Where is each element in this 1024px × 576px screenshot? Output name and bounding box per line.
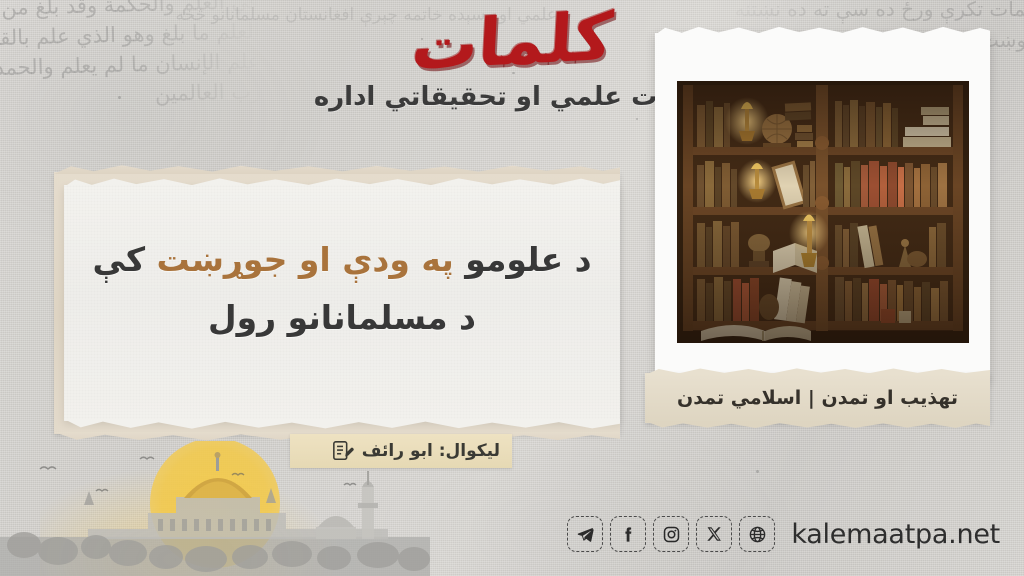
paper-speckle bbox=[636, 118, 638, 120]
photo-frame bbox=[655, 33, 990, 381]
x-twitter-icon[interactable] bbox=[696, 516, 732, 552]
social-links-row: kalemaatpa.net bbox=[567, 516, 1000, 552]
kalemaat-logo[interactable]: كلمات bbox=[409, 1, 614, 83]
website-url[interactable]: kalemaatpa.net bbox=[791, 521, 1000, 548]
facebook-icon[interactable] bbox=[610, 516, 646, 552]
headline-card: د علومو په ودې او جوړښت کې د مسلمانانو ر… bbox=[64, 185, 620, 421]
category-strip: تهذیب او تمدن | اسلامي تمدن bbox=[645, 373, 990, 423]
telegram-icon[interactable] bbox=[567, 516, 603, 552]
globe-website-icon[interactable] bbox=[739, 516, 775, 552]
instagram-icon[interactable] bbox=[653, 516, 689, 552]
headline-highlight: په ودې او جوړښت bbox=[157, 240, 454, 279]
article-headline: د علومو په ودې او جوړښت کې د مسلمانانو ر… bbox=[82, 231, 602, 347]
author-badge: لیکوال: ابو رائف bbox=[290, 434, 512, 468]
headline-segment-1: د علومو bbox=[465, 240, 591, 279]
category-label: تهذیب او تمدن | اسلامي تمدن bbox=[677, 387, 958, 409]
poster-canvas: في العلم والحكمة وقد بلغ من العلم ما بلغ… bbox=[0, 0, 1024, 576]
pencil-document-icon bbox=[332, 439, 354, 463]
author-label: لیکوال: ابو رائف bbox=[362, 443, 500, 460]
paper-speckle bbox=[756, 470, 759, 473]
bookshelf-photo bbox=[677, 81, 969, 343]
